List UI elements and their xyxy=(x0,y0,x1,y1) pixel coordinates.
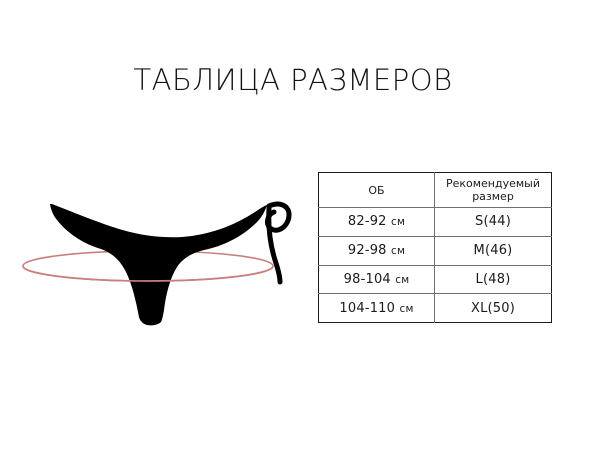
column-header-recommended-line1: Рекомендуемый xyxy=(439,177,547,190)
cell-measurement-range: 82-92 см xyxy=(319,208,435,237)
table-row: 98-104 см L(48) xyxy=(319,265,552,294)
tie-strand xyxy=(269,208,280,282)
measurement-unit: см xyxy=(391,245,405,257)
cell-recommended-size: S(44) xyxy=(435,208,552,237)
column-header-recommended-line2: размер xyxy=(439,190,547,203)
cell-recommended-size: XL(50) xyxy=(435,294,552,323)
measurement-unit: см xyxy=(399,303,413,315)
column-header-measurement-label: ОБ xyxy=(323,184,430,197)
measurement-unit: см xyxy=(391,216,405,228)
cell-recommended-size: M(46) xyxy=(435,236,552,265)
cell-recommended-size: L(48) xyxy=(435,265,552,294)
column-header-recommended-size: Рекомендуемый размер xyxy=(435,173,552,208)
measurement-range-value: 82-92 xyxy=(348,214,387,229)
table-row: 82-92 см S(44) xyxy=(319,208,552,237)
cell-measurement-range: 104-110 см xyxy=(319,294,435,323)
column-header-measurement: ОБ xyxy=(319,173,435,208)
size-table: ОБ Рекомендуемый размер 82-92 см S(44) 9… xyxy=(318,172,552,323)
garment-illustration xyxy=(18,170,298,330)
cell-measurement-range: 92-98 см xyxy=(319,236,435,265)
table-header-row: ОБ Рекомендуемый размер xyxy=(319,173,552,208)
table-row: 104-110 см XL(50) xyxy=(319,294,552,323)
measurement-range-value: 98-104 xyxy=(344,272,391,287)
page-title: ТАБЛИЦА РАЗМЕРОВ xyxy=(0,63,586,97)
measurement-range-value: 92-98 xyxy=(348,243,387,258)
cell-measurement-range: 98-104 см xyxy=(319,265,435,294)
measurement-unit: см xyxy=(395,274,409,286)
measurement-range-value: 104-110 xyxy=(339,301,395,316)
table-row: 92-98 см M(46) xyxy=(319,236,552,265)
size-chart-page: ТАБЛИЦА РАЗМЕРОВ ОБ xyxy=(0,0,600,450)
garment-body xyxy=(50,204,267,325)
